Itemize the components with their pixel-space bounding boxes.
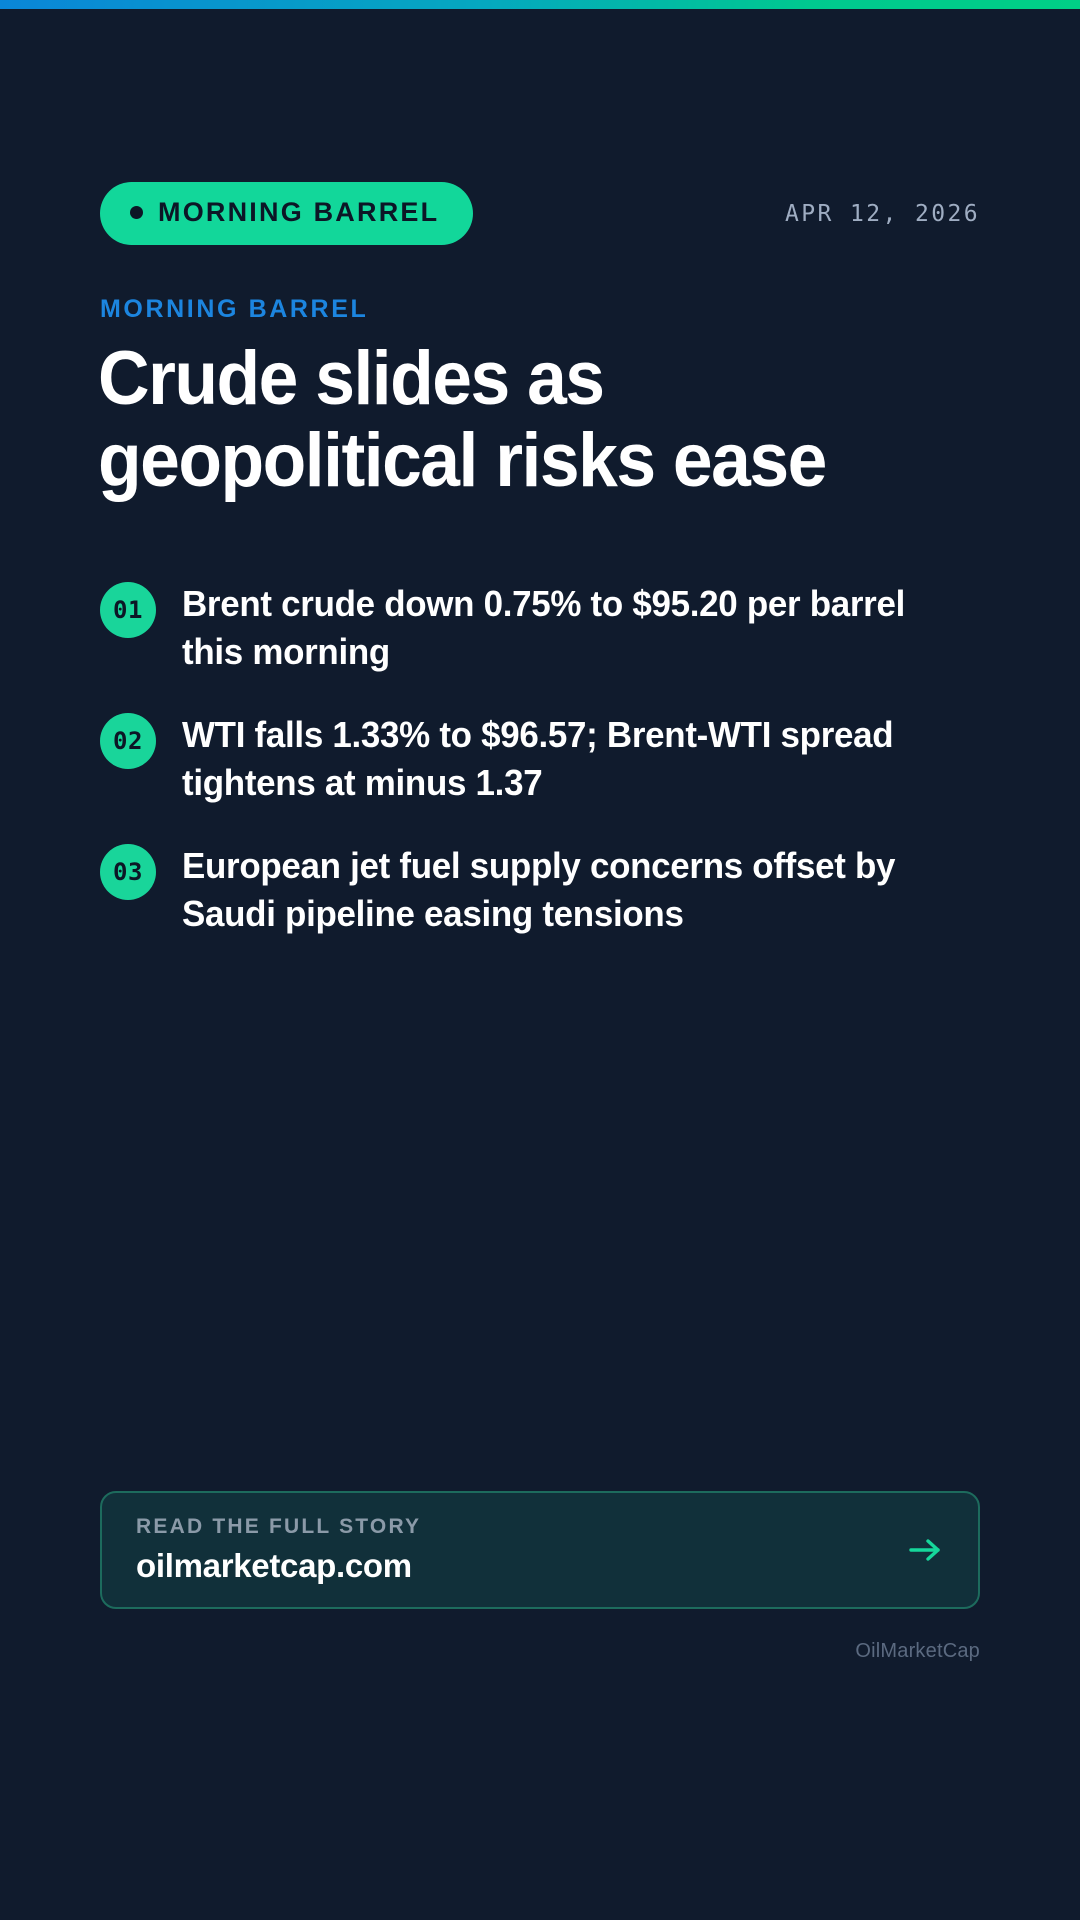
cta-label: READ THE FULL STORY — [136, 1515, 421, 1539]
bullet-number-badge: 03 — [100, 844, 156, 900]
bullet-text: Brent crude down 0.75% to $95.20 per bar… — [182, 580, 958, 675]
cta-text-group: READ THE FULL STORY oilmarketcap.com — [136, 1515, 421, 1585]
list-item: 03 European jet fuel supply concerns off… — [100, 842, 990, 937]
brand-badge-label: MORNING BARREL — [158, 199, 439, 226]
bullet-dot-icon — [130, 206, 143, 219]
cta-url: oilmarketcap.com — [136, 1547, 421, 1585]
list-item: 01 Brent crude down 0.75% to $95.20 per … — [100, 580, 990, 675]
list-item: 02 WTI falls 1.33% to $96.57; Brent-WTI … — [100, 711, 990, 806]
arrow-right-icon[interactable] — [908, 1536, 944, 1564]
header-row: MORNING BARREL APR 12, 2026 — [100, 182, 980, 245]
story-card: MORNING BARREL APR 12, 2026 MORNING BARR… — [0, 0, 1080, 1920]
page-title: Crude slides as geopolitical risks ease — [98, 338, 906, 502]
article-kicker: MORNING BARREL — [100, 295, 368, 324]
bullet-text: WTI falls 1.33% to $96.57; Brent-WTI spr… — [182, 711, 958, 806]
bullet-number-badge: 02 — [100, 713, 156, 769]
bullet-text: European jet fuel supply concerns offset… — [182, 842, 958, 937]
watermark: OilMarketCap — [855, 1640, 980, 1663]
publish-date: APR 12, 2026 — [785, 201, 980, 227]
bullet-list: 01 Brent crude down 0.75% to $95.20 per … — [100, 580, 990, 937]
read-full-story-cta[interactable]: READ THE FULL STORY oilmarketcap.com — [100, 1491, 980, 1609]
brand-badge: MORNING BARREL — [100, 182, 473, 245]
bullet-number-badge: 01 — [100, 582, 156, 638]
